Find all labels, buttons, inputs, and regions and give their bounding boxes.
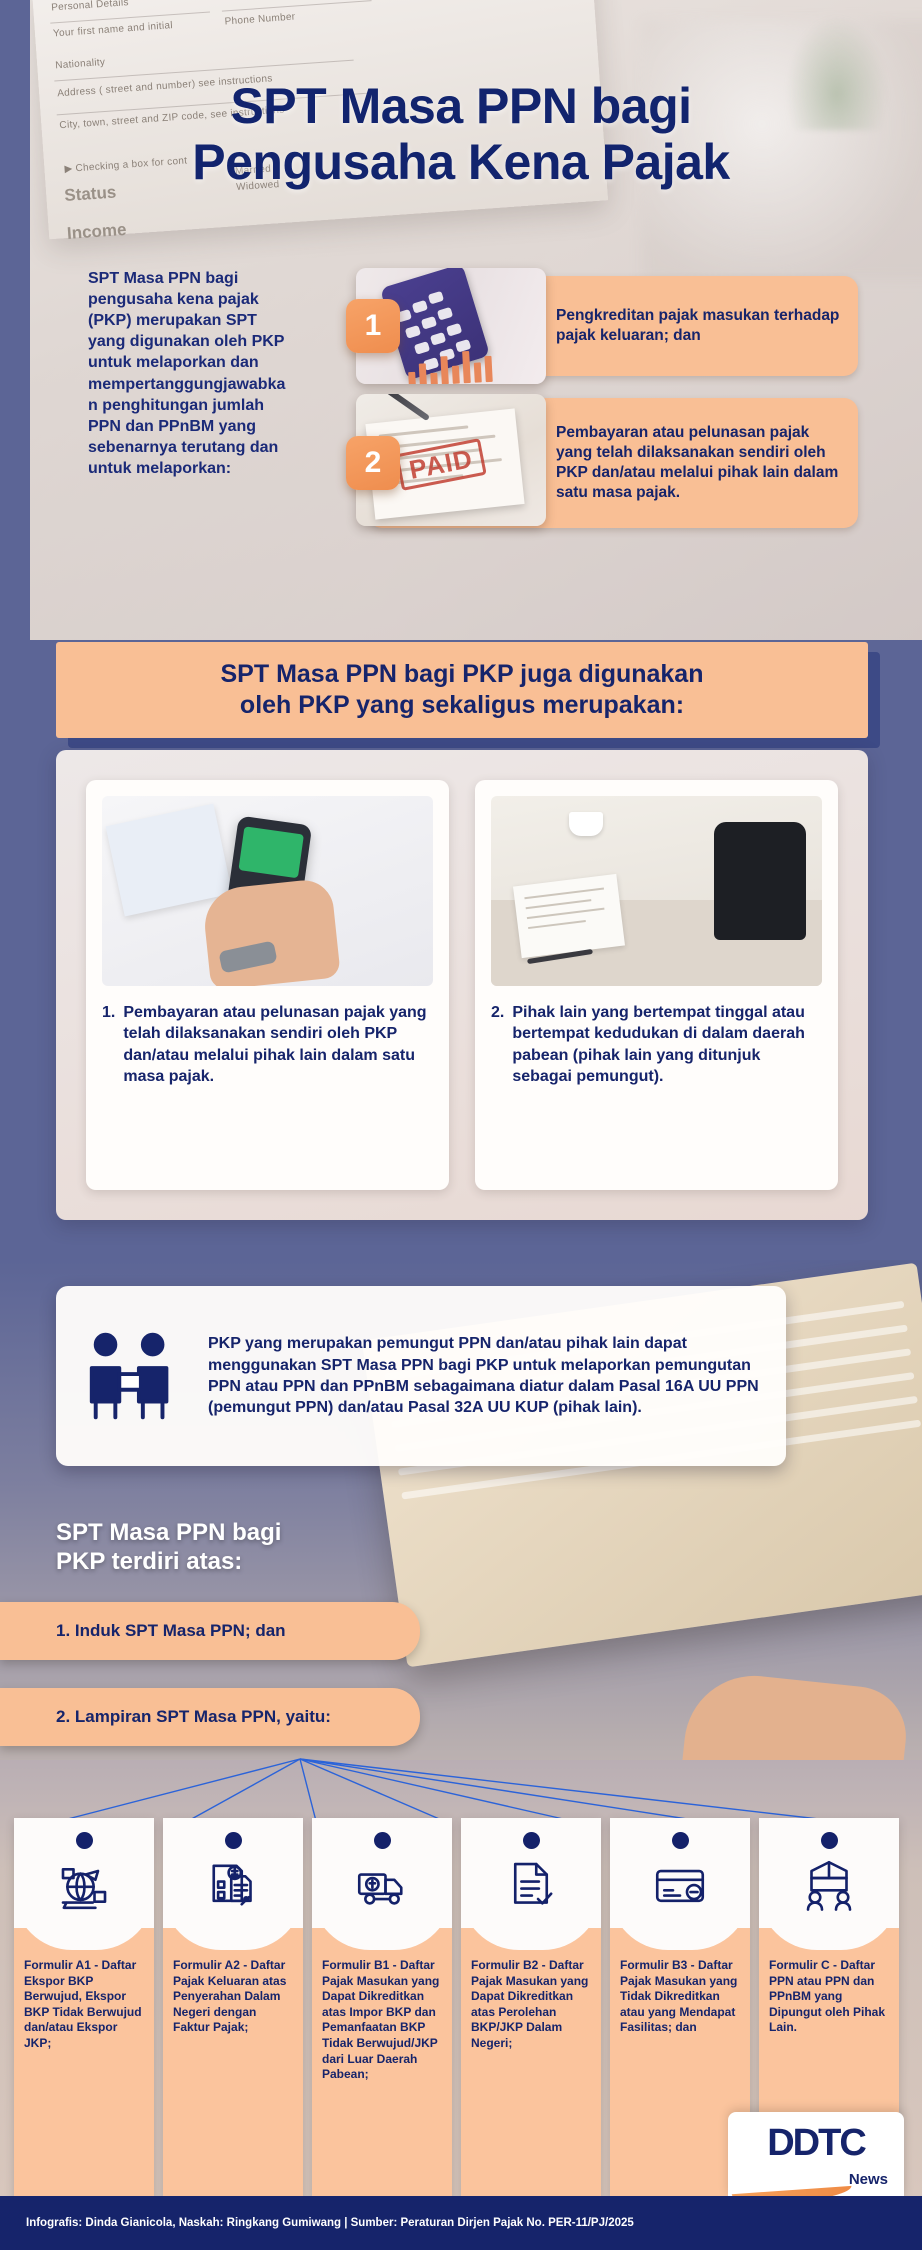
formulir-card: Formulir A2 - Daftar Pajak Keluaran atas… <box>163 1818 303 2198</box>
formulir-label: Formulir B2 - Daftar Pajak Masukan yang … <box>461 1928 601 2198</box>
terdiri-title: SPT Masa PPN bagi PKP terdiri atas: <box>56 1518 281 1577</box>
page-title: SPT Masa PPN bagi Pengusaha Kena Pajak <box>0 78 922 190</box>
panel-2-text: Pihak lain yang bertempat tinggal atau b… <box>512 1002 822 1088</box>
document-check-icon <box>503 1857 559 1913</box>
formulir-label: Formulir A1 - Daftar Ekspor BKP Berwujud… <box>14 1928 154 2198</box>
title-line-1: SPT Masa PPN bagi <box>40 78 882 134</box>
formulir-label: Formulir B1 - Daftar Pajak Masukan yang … <box>312 1928 452 2198</box>
section-2-body: 1. Pembayaran atau pelunasan pajak yang … <box>56 750 868 1220</box>
hero-section: Personal Details Last name Your first na… <box>0 0 922 640</box>
logo-wordmark: DDTC <box>767 2122 865 2165</box>
title-line-2: Pengusaha Kena Pajak <box>40 134 882 190</box>
panel-1-text: Pembayaran atau pelunasan pajak yang tel… <box>123 1002 433 1088</box>
connector-dot <box>225 1832 242 1849</box>
connector-dot <box>76 1832 93 1849</box>
box-people-icon <box>801 1857 857 1913</box>
formulir-card: Formulir B1 - Daftar Pajak Masukan yang … <box>312 1818 452 2198</box>
import-truck-icon <box>354 1857 410 1913</box>
section-2-heading: SPT Masa PPN bagi PKP juga digunakan ole… <box>56 642 868 738</box>
panel-1: 1. Pembayaran atau pelunasan pajak yang … <box>86 780 449 1190</box>
section-2-heading-line-2: oleh PKP yang sekaligus merupakan: <box>240 691 684 719</box>
connector-dot <box>672 1832 689 1849</box>
formulir-card: Formulir B2 - Daftar Pajak Masukan yang … <box>461 1818 601 2198</box>
formulir-label: Formulir A2 - Daftar Pajak Keluaran atas… <box>163 1928 303 2198</box>
footer-bar: Infografis: Dinda Gianicola, Naskah: Rin… <box>0 2196 922 2250</box>
callout-1-number: 1 <box>346 299 400 353</box>
mobile-payment-photo <box>102 796 433 986</box>
callout-2: PAID 2 Pembayaran atau pelunasan pajak y… <box>368 398 858 528</box>
formulir-card: Formulir A1 - Daftar Ekspor BKP Berwujud… <box>14 1818 154 2198</box>
panel-2-text-row: 2. Pihak lain yang bertempat tinggal ata… <box>491 1002 822 1088</box>
two-people-icon <box>80 1328 188 1424</box>
invoice-percent-icon <box>205 1857 261 1913</box>
card-minus-icon <box>652 1857 708 1913</box>
panel-2: 2. Pihak lain yang bertempat tinggal ata… <box>475 780 838 1190</box>
infographic-page: Personal Details Last name Your first na… <box>0 0 922 2250</box>
footer-credit: Infografis: Dinda Gianicola, Naskah: Rin… <box>26 2217 634 2229</box>
office-desk-photo <box>491 796 822 986</box>
panel-1-text-row: 1. Pembayaran atau pelunasan pajak yang … <box>102 1002 433 1088</box>
pill-lampiran: 2. Lampiran SPT Masa PPN, yaitu: <box>0 1688 420 1746</box>
ddtc-logo: DDTC News <box>728 2112 904 2198</box>
globe-shipping-icon <box>56 1857 112 1913</box>
connector-dot <box>374 1832 391 1849</box>
logo-subtitle: News <box>849 2171 888 2188</box>
panel-1-marker: 1. <box>102 1002 115 1088</box>
connector-dot <box>821 1832 838 1849</box>
terdiri-title-line-2: PKP terdiri atas: <box>56 1547 281 1576</box>
section-2-heading-line-1: SPT Masa PPN bagi PKP juga digunakan <box>221 660 704 688</box>
connector-dot <box>523 1832 540 1849</box>
intro-paragraph: SPT Masa PPN bagi pengusaha kena pajak (… <box>88 268 288 479</box>
panel-2-marker: 2. <box>491 1002 504 1088</box>
section-2: SPT Masa PPN bagi PKP juga digunakan ole… <box>0 640 922 1260</box>
pemungut-text: PKP yang merupakan pemungut PPN dan/atau… <box>208 1333 762 1419</box>
callout-2-number: 2 <box>346 436 400 490</box>
pill-induk: 1. Induk SPT Masa PPN; dan <box>0 1602 420 1660</box>
pemungut-card: PKP yang merupakan pemungut PPN dan/atau… <box>56 1286 786 1466</box>
callout-1: 1 Pengkreditan pajak masukan terhadap pa… <box>368 276 858 376</box>
terdiri-title-line-1: SPT Masa PPN bagi <box>56 1518 281 1547</box>
